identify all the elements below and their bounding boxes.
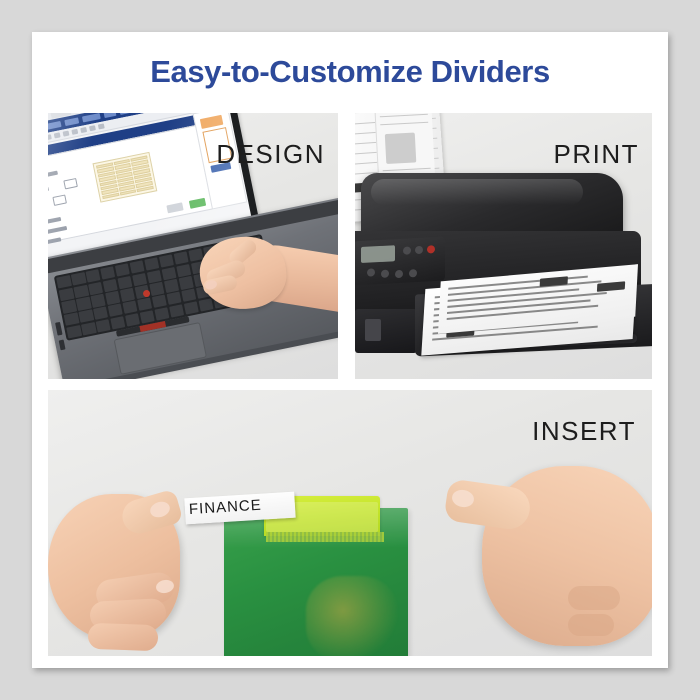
step-label-design: DESIGN (216, 139, 325, 170)
right-hand (440, 432, 652, 654)
tab-perforation-strip (266, 532, 384, 542)
page-title: Easy-to-Customize Dividers (150, 54, 550, 90)
right-knuckle-1 (568, 586, 620, 610)
right-knuckle-2 (568, 614, 614, 636)
printer-control-panel[interactable] (355, 237, 445, 286)
panel-design: DESIGN (48, 113, 338, 379)
step-label-print: PRINT (554, 139, 640, 170)
laptop-port-1 (55, 322, 62, 336)
panel-print: PRINT (355, 113, 652, 379)
page-title-wrap: Easy-to-Customize Dividers (32, 54, 668, 90)
next-button[interactable] (189, 198, 206, 209)
divider-template-grid (92, 152, 157, 203)
panel-insert: FINANCE (48, 390, 652, 656)
design-options-form (48, 163, 93, 221)
preview-thumbnail (200, 115, 224, 129)
left-hand (48, 466, 238, 656)
fingers-seen-through-divider (306, 576, 398, 656)
product-image-card: Easy-to-Customize Dividers (32, 32, 668, 668)
step-label-insert: INSERT (532, 416, 636, 447)
printed-preview-image (385, 132, 417, 164)
laptop-port-2 (59, 340, 66, 351)
hand-on-laptop (182, 227, 338, 335)
cancel-button[interactable] (166, 202, 183, 213)
screenshot-root: Easy-to-Customize Dividers (0, 0, 700, 700)
printer-cartridge-door[interactable] (355, 309, 417, 353)
left-finger-ring (88, 623, 159, 651)
printer-lcd-display (361, 245, 395, 263)
